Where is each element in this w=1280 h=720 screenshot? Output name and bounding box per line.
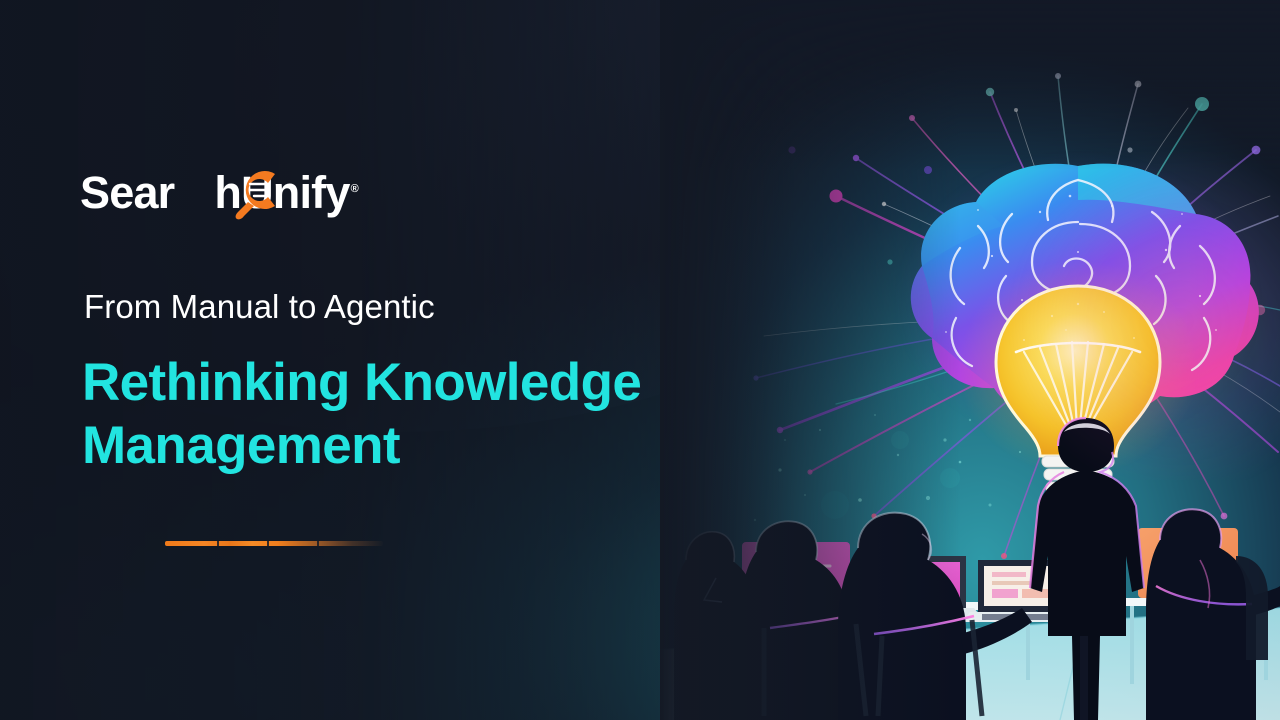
hero-eyebrow: From Manual to Agentic <box>84 288 435 326</box>
magnifier-logo-icon <box>235 164 281 220</box>
logo-wordmark: SearhUnify® <box>80 170 358 215</box>
hero-headline-line-1: Rethinking Knowledge <box>82 353 641 412</box>
hero-headline-line-2: Management <box>82 415 762 478</box>
hero-content: SearhUnify® From Manual to Agentic Rethi… <box>80 0 760 720</box>
searchunify-logo[interactable]: SearhUnify® <box>80 166 358 218</box>
orange-divider-rule <box>165 541 383 546</box>
registered-trademark-symbol: ® <box>351 183 358 195</box>
hero-headline: Rethinking Knowledge Management <box>82 352 762 477</box>
hero-slide: SearhUnify® From Manual to Agentic Rethi… <box>0 0 1280 720</box>
logo-word-part-1: Sear <box>80 167 174 218</box>
